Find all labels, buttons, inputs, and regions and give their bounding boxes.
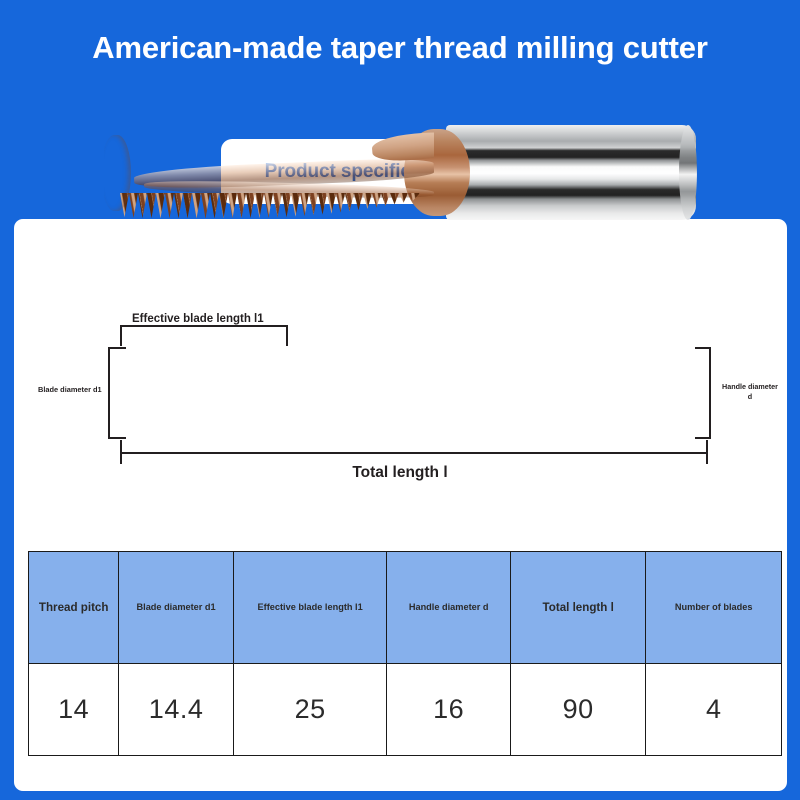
column-header-2: Effective blade length l1 — [233, 552, 387, 664]
column-header-4: Total length l — [510, 552, 646, 664]
cell-value-1: 14.4 — [119, 664, 233, 756]
blade-diameter-tick-top — [108, 347, 126, 349]
cutter-threaded-head — [104, 127, 434, 218]
handle-diameter-label: Handle diameter d — [722, 382, 778, 401]
table-header-row: Thread pitchBlade diameter d1Effective b… — [29, 552, 782, 664]
handle-diameter-line — [709, 347, 711, 438]
handle-diameter-tick-top — [695, 347, 711, 349]
blade-diameter-tick-bottom — [108, 437, 126, 439]
total-length-tick-right — [706, 440, 708, 464]
cutter-nose-face — [104, 135, 131, 211]
column-header-0: Thread pitch — [29, 552, 119, 664]
product-spec-page: American-made taper thread milling cutte… — [0, 0, 800, 800]
column-header-3: Handle diameter d — [387, 552, 510, 664]
page-title: American-made taper thread milling cutte… — [0, 28, 800, 69]
cell-value-4: 90 — [510, 664, 646, 756]
column-header-1: Blade diameter d1 — [119, 552, 233, 664]
cell-value-2: 25 — [233, 664, 387, 756]
milling-cutter-illustration — [104, 125, 696, 220]
effective-blade-length-line — [120, 325, 288, 327]
cell-value-3: 16 — [387, 664, 510, 756]
blade-diameter-label: Blade diameter d1 — [38, 385, 102, 394]
total-length-line — [120, 452, 708, 454]
handle-diameter-tick-bottom — [695, 437, 711, 439]
shank-end-cap — [679, 125, 697, 220]
column-header-5: Number of blades — [646, 552, 782, 664]
table-data-row: 1414.42516904 — [29, 664, 782, 756]
product-diagram — [14, 219, 787, 529]
specification-table: Thread pitchBlade diameter d1Effective b… — [28, 551, 782, 756]
effective-blade-length-tick-left — [120, 325, 122, 346]
cell-value-5: 4 — [646, 664, 782, 756]
total-length-label: Total length l — [0, 464, 800, 482]
blade-diameter-line — [108, 347, 110, 439]
cell-value-0: 14 — [29, 664, 119, 756]
effective-blade-length-tick-right — [286, 325, 288, 346]
cutter-shank — [446, 125, 696, 220]
total-length-tick-left — [120, 440, 122, 464]
effective-blade-length-label: Effective blade length l1 — [128, 313, 268, 325]
